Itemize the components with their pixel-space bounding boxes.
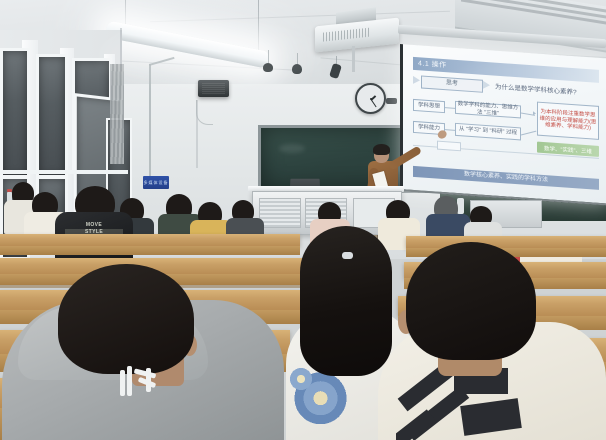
light-bloom	[100, 20, 320, 90]
window-curtain	[110, 64, 124, 164]
projector-cable	[352, 46, 355, 72]
desk-row	[0, 234, 300, 246]
instructor-hair	[373, 144, 390, 155]
student-hair	[58, 264, 194, 374]
student-cream-jacket	[378, 248, 606, 440]
podium-vent	[259, 198, 301, 228]
lecture-hall-photo: 4.1 操作 思考 为什么是数学学科核心素养? 学科思想 学科能力 数学学科的能…	[0, 0, 606, 440]
wall-sensor-icon	[386, 98, 397, 104]
conduit-bend	[196, 100, 213, 125]
student-grey-hoodie-foreground	[2, 272, 284, 440]
window-pane	[0, 48, 30, 178]
water-bottle-icon	[457, 198, 464, 214]
desk-row	[406, 236, 606, 248]
jacket-graphic	[396, 366, 536, 440]
north-face-logo-icon	[120, 366, 156, 396]
window-pane	[36, 54, 68, 178]
blue-wall-sign: 多媒体设备	[143, 176, 169, 189]
desk-front-panel	[0, 246, 300, 255]
blue-sign-text: 多媒体设备	[143, 176, 169, 189]
window-mullion	[0, 170, 128, 174]
student-hair	[406, 242, 536, 360]
chevron-icon	[413, 76, 420, 84]
floral-print	[286, 364, 316, 394]
hair-tie	[342, 252, 353, 259]
screen-bloom	[430, 60, 600, 170]
wall-clock-icon	[355, 83, 386, 114]
